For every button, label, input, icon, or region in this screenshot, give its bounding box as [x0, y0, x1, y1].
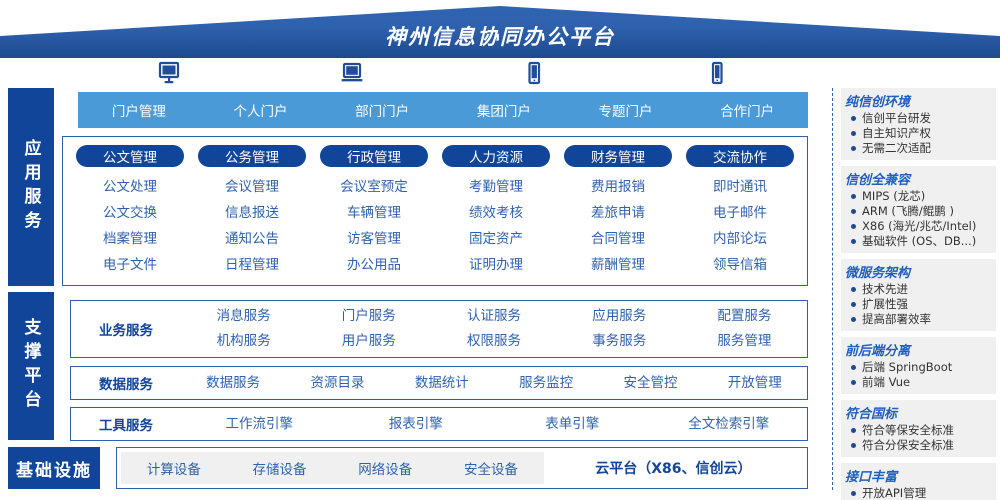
- app-item[interactable]: 信息报送: [225, 200, 279, 226]
- business-cell[interactable]: 权限服务: [467, 329, 521, 354]
- app-item[interactable]: 会议室预定: [340, 174, 408, 200]
- laptop-icon: [339, 60, 365, 90]
- app-item[interactable]: 费用报销: [591, 174, 645, 200]
- app-item[interactable]: 电子文件: [103, 252, 157, 278]
- app-item[interactable]: 领导信箱: [713, 252, 767, 278]
- data-cell[interactable]: 安全管控: [598, 371, 702, 396]
- infrastructure-cell[interactable]: 安全设备: [438, 458, 544, 478]
- portal-bar: 门户管理 个人门户 部门门户 集团门户 专题门户 合作门户: [78, 92, 808, 128]
- portal-item-0[interactable]: 门户管理: [78, 100, 200, 120]
- portal-item-3[interactable]: 集团门户: [443, 100, 565, 120]
- side-list-item: 提高部署效率: [845, 312, 992, 327]
- banner: 神州信息协同办公平台: [0, 6, 1000, 58]
- data-cell[interactable]: 资源目录: [285, 371, 389, 396]
- app-column-4: 财务管理 费用报销 差旅申请 合同管理 薪酬管理: [557, 145, 679, 281]
- bullet-icon: [851, 146, 856, 151]
- app-column-1: 公务管理 会议管理 信息报送 通知公告 日程管理: [191, 145, 313, 281]
- app-column-title-1[interactable]: 公务管理: [198, 145, 306, 167]
- data-cell[interactable]: 数据服务: [181, 371, 285, 396]
- side-item-text: 符合等保安全标准: [862, 423, 954, 438]
- app-column-title-4[interactable]: 财务管理: [564, 145, 672, 167]
- side-item-text: 开放API管理: [862, 486, 926, 500]
- side-list-item: 扩展性强: [845, 297, 992, 312]
- side-list-item: 前端 Vue: [845, 375, 992, 390]
- feature-side-panel: 纯信创环境 信创平台研发 自主知识产权 无需二次适配 信创全兼容 MIPS (龙…: [832, 88, 996, 490]
- side-item-text: 前端 Vue: [862, 375, 910, 390]
- side-item-text: 提高部署效率: [862, 312, 931, 327]
- app-item[interactable]: 日程管理: [225, 252, 279, 278]
- side-item-text: ARM (飞腾/鲲鹏 ): [862, 204, 954, 219]
- business-services-label: 业务服务: [71, 319, 181, 339]
- phone-icon: [704, 60, 730, 90]
- app-column-0: 公文管理 公文处理 公文交换 档案管理 电子文件: [69, 145, 191, 281]
- business-cell[interactable]: 认证服务: [467, 304, 521, 329]
- app-item[interactable]: 合同管理: [591, 226, 645, 252]
- tool-cell[interactable]: 全文检索引擎: [651, 412, 808, 437]
- business-column-1: 门户服务 用户服务: [306, 304, 431, 354]
- app-item[interactable]: 证明办理: [469, 252, 523, 278]
- bullet-icon: [851, 209, 856, 214]
- rail-support-platform: 支撑平台: [8, 292, 54, 440]
- portal-item-2[interactable]: 部门门户: [321, 100, 443, 120]
- business-cell[interactable]: 门户服务: [342, 304, 396, 329]
- bullet-icon: [851, 194, 856, 199]
- tool-services-row: 工作流引擎 报表引擎 表单引擎 全文检索引擎: [181, 412, 807, 437]
- infrastructure-box: 计算设备 存储设备 网络设备 安全设备 云平台（X86、信创云）: [116, 447, 808, 489]
- app-item[interactable]: 公文交换: [103, 200, 157, 226]
- infrastructure-cell[interactable]: 计算设备: [121, 458, 227, 478]
- bullet-icon: [851, 239, 856, 244]
- side-item-text: MIPS (龙芯): [862, 189, 925, 204]
- app-item[interactable]: 会议管理: [225, 174, 279, 200]
- side-list-item: 开放API管理: [845, 486, 992, 500]
- bullet-icon: [851, 443, 856, 448]
- side-item-text: 符合分保安全标准: [862, 438, 954, 453]
- app-item[interactable]: 固定资产: [469, 226, 523, 252]
- bullet-icon: [851, 428, 856, 433]
- side-card-2: 微服务架构 技术先进 扩展性强 提高部署效率: [841, 259, 996, 331]
- portal-item-1[interactable]: 个人门户: [200, 100, 322, 120]
- side-item-text: 基础软件 (OS、DB...): [862, 234, 976, 249]
- device-cell-laptop: [261, 60, 444, 90]
- portal-item-4[interactable]: 专题门户: [565, 100, 687, 120]
- data-services-row: 数据服务 资源目录 数据统计 服务监控 安全管控 开放管理: [181, 371, 807, 396]
- business-column-4: 配置服务 服务管理: [682, 304, 807, 354]
- tool-cell[interactable]: 表单引擎: [494, 412, 651, 437]
- business-cell[interactable]: 机构服务: [217, 329, 271, 354]
- tool-cell[interactable]: 报表引擎: [338, 412, 495, 437]
- bullet-icon: [851, 287, 856, 292]
- side-card-5: 接口丰富 开放API管理: [841, 463, 996, 500]
- business-cell[interactable]: 用户服务: [342, 329, 396, 354]
- bullet-icon: [851, 224, 856, 229]
- app-item[interactable]: 薪酬管理: [591, 252, 645, 278]
- side-item-text: 后端 SpringBoot: [862, 360, 952, 375]
- infrastructure-devices: 计算设备 存储设备 网络设备 安全设备: [121, 452, 544, 484]
- side-item-text: 自主知识产权: [862, 126, 931, 141]
- side-list-item: 后端 SpringBoot: [845, 360, 992, 375]
- side-card-title-0: 纯信创环境: [845, 91, 992, 110]
- side-card-title-2: 微服务架构: [845, 262, 992, 281]
- data-cell[interactable]: 开放管理: [703, 371, 807, 396]
- side-list-item: 符合分保安全标准: [845, 438, 992, 453]
- side-list-item: ARM (飞腾/鲲鹏 ): [845, 204, 992, 219]
- app-item[interactable]: 内部论坛: [713, 226, 767, 252]
- app-column-3: 人力资源 考勤管理 绩效考核 固定资产 证明办理: [435, 145, 557, 281]
- app-item[interactable]: 差旅申请: [591, 200, 645, 226]
- rail-application-services: 应用服务: [8, 88, 54, 286]
- side-item-text: 无需二次适配: [862, 141, 931, 156]
- app-column-title-5[interactable]: 交流协作: [686, 145, 794, 167]
- business-column-0: 消息服务 机构服务: [181, 304, 306, 354]
- data-services-box: 数据服务 数据服务 资源目录 数据统计 服务监控 安全管控 开放管理: [70, 366, 808, 400]
- side-list-item: X86 (海光/兆芯/Intel): [845, 219, 992, 234]
- business-cell[interactable]: 服务管理: [717, 329, 771, 354]
- bullet-icon: [851, 365, 856, 370]
- side-list-item: 自主知识产权: [845, 126, 992, 141]
- side-item-text: 信创平台研发: [862, 111, 931, 126]
- bullet-icon: [851, 302, 856, 307]
- tool-services-box: 工具服务 工作流引擎 报表引擎 表单引擎 全文检索引擎: [70, 407, 808, 441]
- side-list-item: 技术先进: [845, 282, 992, 297]
- business-cell[interactable]: 配置服务: [717, 304, 771, 329]
- bullet-icon: [851, 491, 856, 496]
- infrastructure-cell[interactable]: 网络设备: [332, 458, 438, 478]
- bullet-icon: [851, 317, 856, 322]
- business-cell[interactable]: 应用服务: [592, 304, 646, 329]
- side-card-0: 纯信创环境 信创平台研发 自主知识产权 无需二次适配: [841, 88, 996, 160]
- rail-infrastructure: 基础设施: [8, 447, 100, 489]
- tool-services-label: 工具服务: [71, 414, 181, 434]
- business-services-box: 业务服务 消息服务 机构服务 门户服务 用户服务 认证服务 权限服务 应用服务 …: [70, 300, 808, 358]
- data-services-label: 数据服务: [71, 373, 181, 393]
- side-item-text: X86 (海光/兆芯/Intel): [862, 219, 976, 234]
- infrastructure-cloud-platform[interactable]: 云平台（X86、信创云）: [544, 452, 803, 484]
- side-list-item: 基础软件 (OS、DB...): [845, 234, 992, 249]
- side-item-text: 扩展性强: [862, 297, 908, 312]
- bullet-icon: [851, 380, 856, 385]
- business-column-2: 认证服务 权限服务: [431, 304, 556, 354]
- tablet-icon: [521, 60, 547, 90]
- app-column-5: 交流协作 即时通讯 电子邮件 内部论坛 领导信箱: [679, 145, 801, 281]
- side-list-item: 无需二次适配: [845, 141, 992, 156]
- app-item[interactable]: 电子邮件: [713, 200, 767, 226]
- app-item[interactable]: 通知公告: [225, 226, 279, 252]
- app-column-title-0[interactable]: 公文管理: [76, 145, 184, 167]
- side-card-title-4: 符合国标: [845, 403, 992, 422]
- data-cell[interactable]: 服务监控: [494, 371, 598, 396]
- side-card-3: 前后端分离 后端 SpringBoot 前端 Vue: [841, 337, 996, 394]
- app-item[interactable]: 访客管理: [347, 226, 401, 252]
- app-item[interactable]: 办公用品: [347, 252, 401, 278]
- side-list-item: MIPS (龙芯): [845, 189, 992, 204]
- device-icon-row: [78, 60, 808, 90]
- device-cell-tablet: [443, 60, 626, 90]
- tool-cell[interactable]: 工作流引擎: [181, 412, 338, 437]
- business-cell[interactable]: 事务服务: [592, 329, 646, 354]
- data-cell[interactable]: 数据统计: [390, 371, 494, 396]
- portal-item-5[interactable]: 合作门户: [686, 100, 808, 120]
- business-services-grid: 消息服务 机构服务 门户服务 用户服务 认证服务 权限服务 应用服务 事务服务 …: [181, 304, 807, 354]
- side-card-title-1: 信创全兼容: [845, 169, 992, 188]
- app-item[interactable]: 档案管理: [103, 226, 157, 252]
- infrastructure-cell[interactable]: 存储设备: [227, 458, 333, 478]
- device-cell-phone: [626, 60, 809, 90]
- diagram-root: 神州信息协同办公平台 应用服务 支撑平台 基础设施 门户管理: [0, 0, 1000, 500]
- business-column-3: 应用服务 事务服务: [557, 304, 682, 354]
- application-services-box: 公文管理 公文处理 公文交换 档案管理 电子文件 公务管理 会议管理 信息报送 …: [62, 136, 808, 286]
- app-column-title-2[interactable]: 行政管理: [320, 145, 428, 167]
- desktop-icon: [156, 60, 182, 90]
- app-item[interactable]: 绩效考核: [469, 200, 523, 226]
- bullet-icon: [851, 131, 856, 136]
- side-list-item: 信创平台研发: [845, 111, 992, 126]
- app-item[interactable]: 考勤管理: [469, 174, 523, 200]
- side-card-title-5: 接口丰富: [845, 466, 992, 485]
- app-item[interactable]: 即时通讯: [713, 174, 767, 200]
- app-item[interactable]: 车辆管理: [347, 200, 401, 226]
- side-card-1: 信创全兼容 MIPS (龙芯) ARM (飞腾/鲲鹏 ) X86 (海光/兆芯/…: [841, 166, 996, 253]
- app-item[interactable]: 公文处理: [103, 174, 157, 200]
- business-cell[interactable]: 消息服务: [217, 304, 271, 329]
- app-column-title-3[interactable]: 人力资源: [442, 145, 550, 167]
- side-item-text: 技术先进: [862, 282, 908, 297]
- bullet-icon: [851, 116, 856, 121]
- side-card-title-3: 前后端分离: [845, 340, 992, 359]
- app-column-2: 行政管理 会议室预定 车辆管理 访客管理 办公用品: [313, 145, 435, 281]
- side-list-item: 符合等保安全标准: [845, 423, 992, 438]
- platform-title: 神州信息协同办公平台: [0, 6, 1000, 58]
- side-card-4: 符合国标 符合等保安全标准 符合分保安全标准: [841, 400, 996, 457]
- device-cell-desktop: [78, 60, 261, 90]
